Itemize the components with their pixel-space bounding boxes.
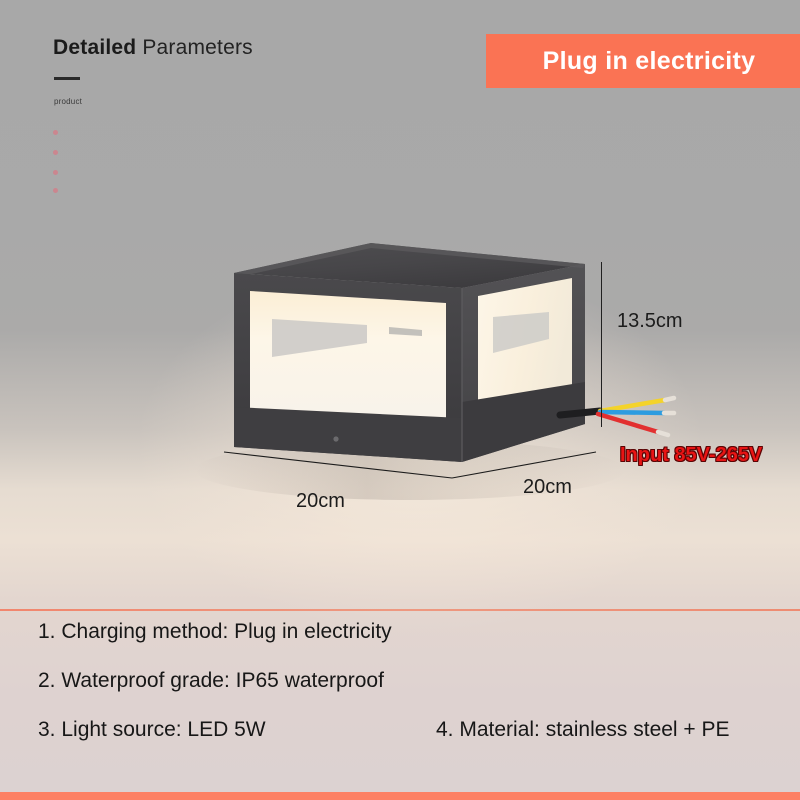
wire-sheath (560, 411, 600, 415)
spec-item-material: 4. Material: stainless steel + PE (436, 718, 730, 742)
dimension-label-front-width: 20cm (296, 490, 345, 513)
wire-blue (600, 412, 664, 413)
input-voltage-label: Input 85V-265V (620, 444, 762, 467)
dimension-label-height: 13.5cm (617, 310, 683, 333)
spec-row: 2. Waterproof grade: IP65 waterproof (0, 669, 800, 718)
wire-red (598, 414, 658, 432)
dimension-line-height (601, 262, 602, 427)
section-divider (0, 609, 800, 611)
wire-red-tip (658, 432, 668, 435)
product-detail-image: Detailed Parameters product Plug in elec… (0, 0, 800, 800)
spec-item-light-source: 3. Light source: LED 5W (38, 718, 266, 742)
spec-list: 1. Charging method: Plug in electricity … (0, 620, 800, 767)
footer-faint-strip (0, 770, 800, 792)
wire-yellow (600, 400, 665, 411)
spec-item-waterproof-grade: 2. Waterproof grade: IP65 waterproof (38, 669, 384, 693)
spec-row: 1. Charging method: Plug in electricity (0, 620, 800, 669)
footer-accent-bar (0, 792, 800, 800)
dimension-label-side-width: 20cm (523, 476, 572, 499)
spec-item-charging-method: 1. Charging method: Plug in electricity (38, 620, 392, 644)
lamp-screw-dot-icon (333, 436, 338, 441)
lamp-front-light-panel (250, 291, 446, 428)
spec-row: 3. Light source: LED 5W 4. Material: sta… (0, 718, 800, 767)
wire-yellow-tip (665, 398, 674, 400)
